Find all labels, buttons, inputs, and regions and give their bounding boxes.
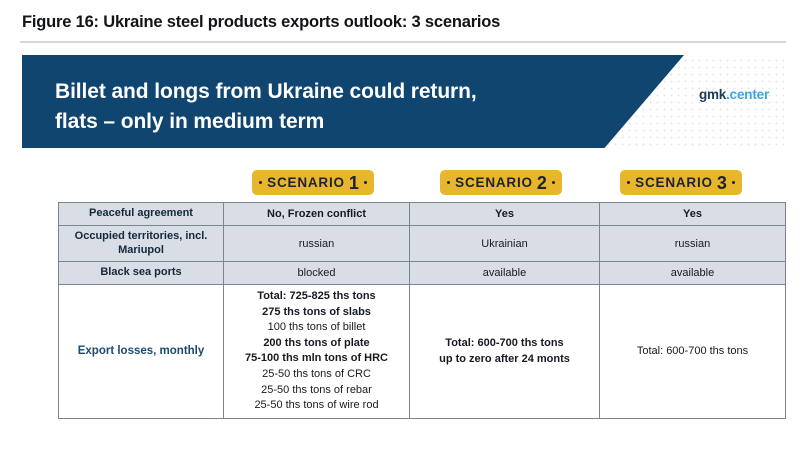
- cell-occupied-territories-s1: russian: [224, 225, 410, 262]
- badge-dot-right-icon: [552, 181, 555, 184]
- figure-page: Figure 16: Ukraine steel products export…: [0, 0, 802, 449]
- loss-line: 200 ths tons of plate: [230, 336, 403, 352]
- banner-headline-line-2: flats – only in medium term: [55, 107, 477, 137]
- loss-line: 275 ths tons of slabs: [230, 305, 403, 321]
- logo-text-gmk: gmk: [699, 87, 726, 102]
- scenario-badge-1-label: SCENARIO: [267, 175, 345, 190]
- cell-peaceful-agreement-s1: No, Frozen conflict: [224, 203, 410, 226]
- scenario-badge-3-label: SCENARIO: [635, 175, 713, 190]
- banner: Billet and longs from Ukraine could retu…: [22, 55, 784, 148]
- cell-occupied-territories-s2: Ukrainian: [410, 225, 600, 262]
- badge-dot-left-icon: [259, 181, 262, 184]
- badge-dot-left-icon: [447, 181, 450, 184]
- gmk-center-logo: gmk.center: [699, 87, 769, 102]
- scenarios-table: Peaceful agreement No, Frozen conflict Y…: [58, 202, 786, 419]
- loss-line: up to zero after 24 monts: [416, 351, 593, 368]
- cell-peaceful-agreement-s3: Yes: [600, 203, 786, 226]
- cell-peaceful-agreement-s2: Yes: [410, 203, 600, 226]
- loss-line: Total: 600-700 ths tons: [416, 335, 593, 352]
- scenario-badge-row: SCENARIO 1 SCENARIO 2 SCENARIO 3: [0, 170, 802, 196]
- row-label-export-losses: Export losses, monthly: [59, 285, 224, 419]
- cell-black-sea-ports-s2: available: [410, 262, 600, 285]
- badge-dot-right-icon: [732, 181, 735, 184]
- loss-line: 25-50 ths tons of CRC: [230, 367, 403, 383]
- table-row: Peaceful agreement No, Frozen conflict Y…: [59, 203, 786, 226]
- logo-text-center: .center: [726, 87, 769, 102]
- cell-occupied-territories-s3: russian: [600, 225, 786, 262]
- scenario-badge-1: SCENARIO 1: [252, 170, 374, 195]
- cell-export-losses-s3: Total: 600-700 ths tons: [600, 285, 786, 419]
- table-row: Occupied territories, incl. Mariupol rus…: [59, 225, 786, 262]
- cell-export-losses-s1: Total: 725-825 ths tons 275 ths tons of …: [224, 285, 410, 419]
- cell-black-sea-ports-s1: blocked: [224, 262, 410, 285]
- row-label-black-sea-ports: Black sea ports: [59, 262, 224, 285]
- banner-headline: Billet and longs from Ukraine could retu…: [55, 77, 477, 137]
- loss-line: 75-100 ths mln tons of HRC: [230, 351, 403, 367]
- scenario-badge-1-number: 1: [349, 174, 359, 192]
- scenario-badge-2: SCENARIO 2: [440, 170, 562, 195]
- loss-line: 100 ths tons of billet: [230, 320, 403, 336]
- table-row: Export losses, monthly Total: 725-825 th…: [59, 285, 786, 419]
- page-title: Figure 16: Ukraine steel products export…: [22, 13, 500, 32]
- row-label-occupied-territories: Occupied territories, incl. Mariupol: [59, 225, 224, 262]
- row-label-peaceful-agreement: Peaceful agreement: [59, 203, 224, 226]
- scenario-badge-2-label: SCENARIO: [455, 175, 533, 190]
- loss-line: 25-50 ths tons of wire rod: [230, 398, 403, 414]
- loss-line: 25-50 ths tons of rebar: [230, 383, 403, 399]
- loss-line: Total: 725-825 ths tons: [230, 289, 403, 305]
- scenario-badge-2-number: 2: [537, 174, 547, 192]
- table-row: Black sea ports blocked available availa…: [59, 262, 786, 285]
- scenario-badge-3: SCENARIO 3: [620, 170, 742, 195]
- badge-dot-left-icon: [627, 181, 630, 184]
- cell-black-sea-ports-s3: available: [600, 262, 786, 285]
- banner-headline-line-1: Billet and longs from Ukraine could retu…: [55, 77, 477, 107]
- cell-export-losses-s2: Total: 600-700 ths tons up to zero after…: [410, 285, 600, 419]
- title-divider: [20, 41, 786, 43]
- badge-dot-right-icon: [364, 181, 367, 184]
- scenario-badge-3-number: 3: [717, 174, 727, 192]
